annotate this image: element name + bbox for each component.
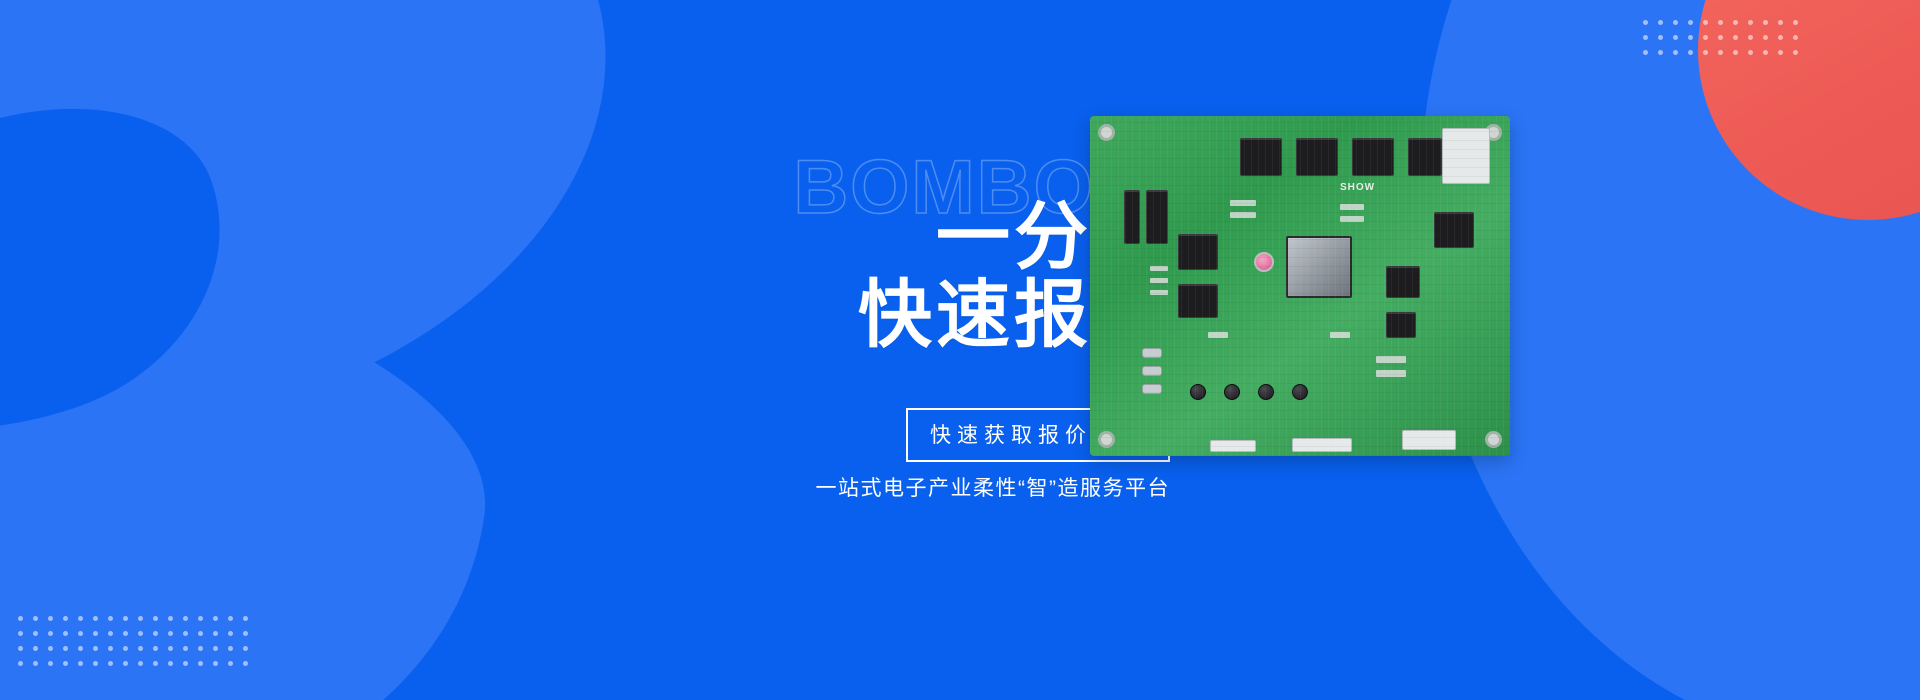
decor-dot: [228, 631, 233, 636]
decor-dot: [63, 616, 68, 621]
decor-dot: [1688, 50, 1693, 55]
decor-dot: [1748, 50, 1753, 55]
decor-dot: [1658, 50, 1663, 55]
decor-dot: [1793, 20, 1798, 25]
decor-dot: [1643, 35, 1648, 40]
decor-dot: [1763, 35, 1768, 40]
decor-dot: [183, 661, 188, 666]
decor-dot: [153, 661, 158, 666]
decor-dot: [213, 631, 218, 636]
decor-dot: [1748, 20, 1753, 25]
decor-dot: [183, 646, 188, 651]
decor-dot: [33, 616, 38, 621]
decor-dot: [243, 631, 248, 636]
decor-dot: [243, 661, 248, 666]
decor-dot: [138, 661, 143, 666]
decor-dot: [1688, 35, 1693, 40]
promo-banner: BOMBOM 一分钟 快速报价 快速获取报价信息 一站式电子产业柔性“智”造服务…: [0, 0, 1920, 700]
decor-dot: [93, 616, 98, 621]
decor-dot: [78, 646, 83, 651]
decor-dot: [198, 646, 203, 651]
decor-dot: [1778, 20, 1783, 25]
decor-dot: [213, 661, 218, 666]
decor-dot: [153, 631, 158, 636]
decor-dot: [213, 616, 218, 621]
decor-dot: [63, 646, 68, 651]
decor-dot: [168, 616, 173, 621]
decor-dot: [198, 616, 203, 621]
decor-dot: [1718, 35, 1723, 40]
decor-dot: [1793, 35, 1798, 40]
decor-dot: [1673, 20, 1678, 25]
pcb-circuit-board-image: SHOW: [1090, 116, 1510, 456]
decor-dot: [1733, 20, 1738, 25]
decor-dot: [183, 616, 188, 621]
decor-dot: [1703, 35, 1708, 40]
decor-dot: [108, 646, 113, 651]
decor-dot: [33, 646, 38, 651]
decor-dot: [243, 646, 248, 651]
decor-dot: [93, 631, 98, 636]
decor-dot: [1688, 20, 1693, 25]
decor-dot: [18, 661, 23, 666]
decor-dot: [1673, 50, 1678, 55]
decor-dot: [1763, 50, 1768, 55]
decor-dot: [1763, 20, 1768, 25]
decor-dot: [1643, 20, 1648, 25]
decor-dot: [78, 616, 83, 621]
decor-dot: [153, 646, 158, 651]
decor-dot: [108, 616, 113, 621]
decor-dot: [123, 631, 128, 636]
decor-dot: [48, 631, 53, 636]
decor-dot: [18, 631, 23, 636]
decor-dot: [183, 631, 188, 636]
decor-dot: [1643, 50, 1648, 55]
decor-dot: [93, 646, 98, 651]
decor-dot: [78, 631, 83, 636]
decor-dot: [1748, 35, 1753, 40]
decor-dot: [18, 616, 23, 621]
decor-dot: [63, 661, 68, 666]
decor-dot: [48, 661, 53, 666]
decor-dot: [228, 661, 233, 666]
decor-dot: [1658, 35, 1663, 40]
decor-dot: [18, 646, 23, 651]
decor-dot: [1673, 35, 1678, 40]
decor-dot: [33, 661, 38, 666]
decor-dot: [1778, 35, 1783, 40]
decor-dot: [1733, 50, 1738, 55]
banner-subtitle: 一站式电子产业柔性“智”造服务平台: [816, 472, 1171, 502]
decor-dot: [123, 646, 128, 651]
decor-dot: [108, 631, 113, 636]
decor-dot: [123, 616, 128, 621]
decor-dot: [1703, 50, 1708, 55]
decor-dot: [168, 631, 173, 636]
pcb-silkscreen-label: SHOW: [1340, 182, 1375, 193]
decor-dot: [198, 631, 203, 636]
decor-dot: [1718, 20, 1723, 25]
decor-dot: [1793, 50, 1798, 55]
decor-dot: [1658, 20, 1663, 25]
decor-dot: [93, 661, 98, 666]
decor-dot: [1718, 50, 1723, 55]
decor-dot: [138, 616, 143, 621]
decor-dot: [198, 661, 203, 666]
dot-grid-bottom-left: [18, 616, 248, 666]
decor-dot: [108, 661, 113, 666]
decor-dot: [1733, 35, 1738, 40]
decor-dot: [228, 646, 233, 651]
dot-grid-top-right: [1643, 20, 1798, 55]
decor-dot: [1778, 50, 1783, 55]
decor-dot: [213, 646, 218, 651]
decor-dot: [168, 646, 173, 651]
decor-dot: [138, 646, 143, 651]
decor-dot: [168, 661, 173, 666]
decor-dot: [33, 631, 38, 636]
decor-dot: [243, 616, 248, 621]
decor-dot: [153, 616, 158, 621]
decor-dot: [123, 661, 128, 666]
decor-dot: [1703, 20, 1708, 25]
headline-block: BOMBOM 一分钟 快速报价 快速获取报价信息 一站式电子产业柔性“智”造服务…: [640, 150, 1120, 430]
decor-dot: [48, 616, 53, 621]
decor-dot: [228, 616, 233, 621]
decor-dot: [63, 631, 68, 636]
decor-dot: [78, 661, 83, 666]
decor-dot: [48, 646, 53, 651]
decor-dot: [138, 631, 143, 636]
